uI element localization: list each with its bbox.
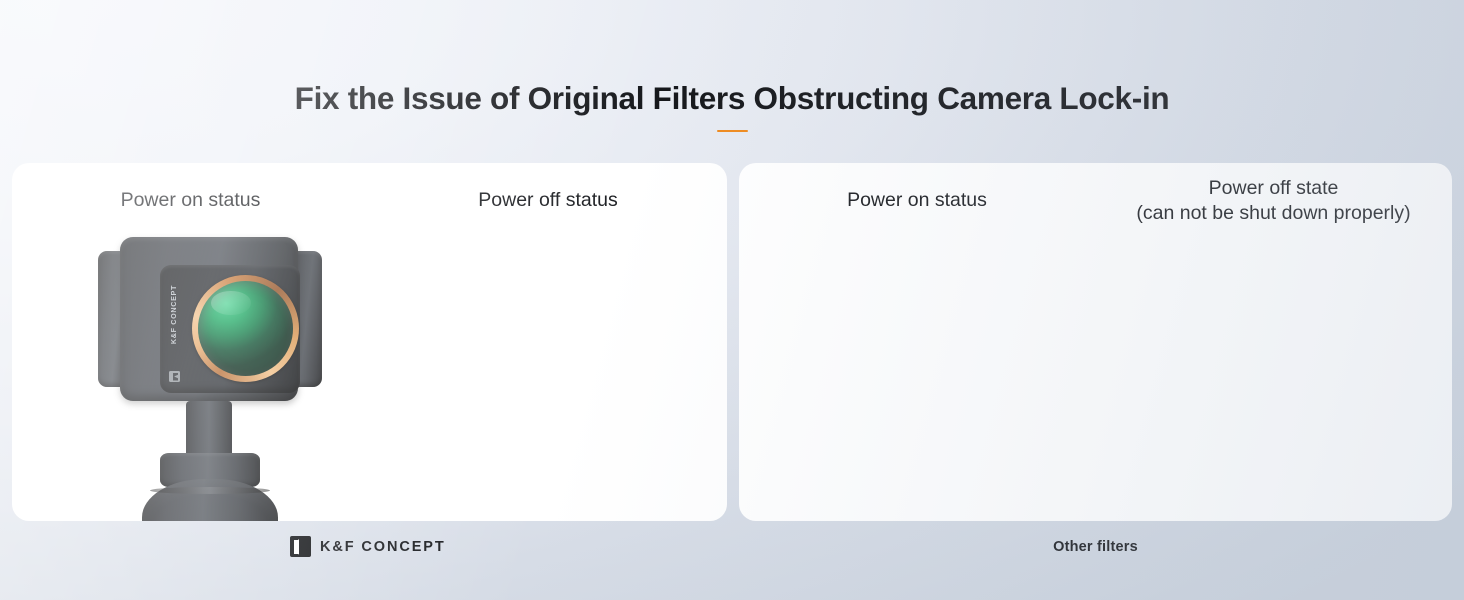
panel-kf-power-off: Power off status [369,163,727,521]
filter-frame: K&F CONCEPT ND32-512 9 8 7 6 5 [160,265,300,393]
comparison-card-kf: Power on status K&F CONCEPT ND32-512 9 8… [12,163,727,521]
kf-logo-icon [290,536,311,557]
page-background: Fix the Issue of Original Filters Obstru… [0,0,1464,600]
kf-logo-mark-icon [169,371,180,382]
brand-name: K&F CONCEPT [320,539,446,555]
panel-other-power-off: Power off state (can not be shut down pr… [1095,163,1452,521]
brand-footer-kf: K&F CONCEPT [290,536,446,557]
panel-caption: Power off status [369,188,727,213]
product-kf-filter-camera: K&F CONCEPT ND32-512 9 8 7 6 5 [98,227,328,521]
page-title: Fix the Issue of Original Filters Obstru… [0,80,1464,117]
filter-glass [198,281,293,376]
brand-footer-other: Other filters [739,539,1452,555]
comparison-card-other: Power on status [739,163,1452,521]
gimbal-neck [186,401,232,459]
panel-kf-power-on: Power on status K&F CONCEPT ND32-512 9 8… [12,163,369,521]
title-accent-rule [717,130,748,132]
panel-caption-line-2: (can not be shut down properly) [1095,201,1452,226]
panel-caption: Power off state (can not be shut down pr… [1095,176,1452,226]
filter-ring [192,275,299,382]
filter-brand-engraving: K&F CONCEPT [169,285,178,344]
panel-caption: Power on status [12,188,369,213]
panel-other-power-on: Power on status [739,163,1095,521]
panel-caption: Power on status [739,188,1095,213]
panel-caption-line-1: Power off state [1095,176,1452,201]
camera-block: K&F CONCEPT ND32-512 9 8 7 6 5 [120,237,298,401]
